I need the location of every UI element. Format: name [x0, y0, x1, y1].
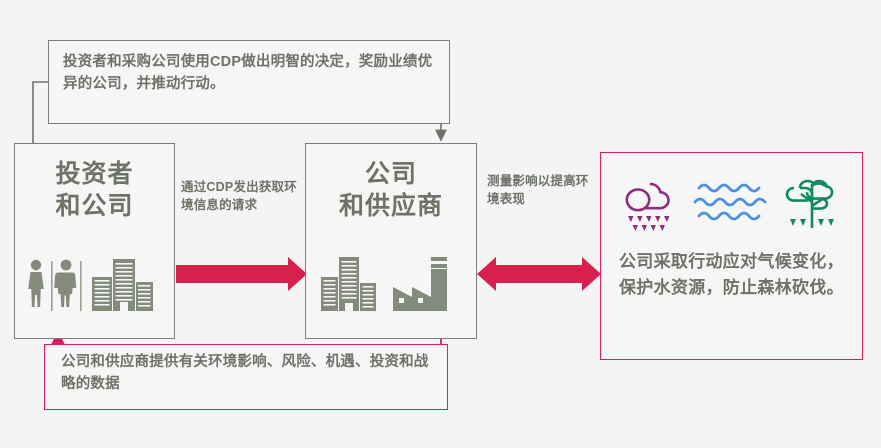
node-environment-icons [601, 167, 862, 241]
arrow-investors-to-companies [176, 257, 307, 291]
water-waves-icon [693, 174, 771, 234]
top-callout-box: 投资者和采购公司使用CDP做出明智的决定，奖励业绩优异的公司，并推动行动。 [48, 40, 450, 124]
office-buildings-icon [321, 257, 376, 311]
node-companies-title: 公司 和供应商 [306, 158, 476, 222]
top-left-connector [33, 82, 48, 145]
node-environment-text: 公司采取行动应对气候变化，保护水资源，防止森林砍伐。 [619, 249, 847, 300]
node-investors-icons [15, 255, 174, 322]
bottom-callout-text: 公司和供应商提供有关环境影响、风险、机遇、投资和战略的数据 [61, 351, 441, 396]
bottom-callout-box: 公司和供应商提供有关环境影响、风险、机遇、投资和战略的数据 [44, 344, 448, 410]
top-callout-text: 投资者和采购公司使用CDP做出明智的决定，奖励业绩优异的公司，并推动行动。 [63, 51, 438, 96]
connector-label-request: 通过CDP发出获取环境信息的请求 [181, 178, 303, 214]
node-companies[interactable]: 公司 和供应商 [305, 143, 477, 339]
tree-icon [780, 172, 844, 236]
connector-label-measure: 测量影响以提高环境表现 [487, 172, 593, 208]
node-companies-icons [306, 253, 476, 322]
node-environment[interactable]: 公司采取行动应对气候变化，保护水资源，防止森林砍伐。 [600, 152, 863, 360]
node-investors-title: 投资者 和公司 [15, 158, 174, 222]
person-male-icon [54, 260, 76, 307]
arrow-companies-to-environment [477, 257, 601, 291]
rain-cloud-icon [620, 172, 684, 236]
diagram-canvas: 投资者和采购公司使用CDP做出明智的决定，奖励业绩优异的公司，并推动行动。 公司… [0, 0, 881, 448]
city-buildings-icon [92, 259, 153, 311]
factory-icon [393, 257, 447, 311]
person-female-icon [28, 260, 44, 307]
node-investors[interactable]: 投资者 和公司 [14, 143, 175, 339]
